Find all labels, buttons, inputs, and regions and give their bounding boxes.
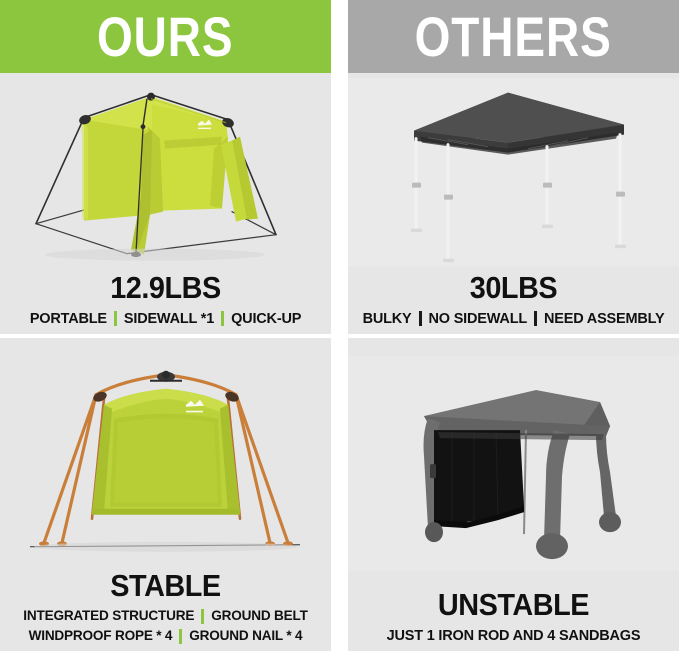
green-popup-canopy-tent-illustration [0,73,331,272]
feature-list-ours-bottom-line1: INTEGRATED STRUCTURE GROUND BELT [0,608,331,625]
section-ours-top: 12.9LBS PORTABLE SIDEWALL *1 QUICK-UP [0,73,331,334]
feature-separator-icon [419,311,422,326]
section-others-bottom: UNSTABLE JUST 1 IRON ROD AND 4 SANDBAGS [348,338,679,651]
banner-ours-title: OURS [97,9,234,65]
comparison-column-others: OTHERS [348,0,679,651]
product-comparison-infographic: OURS [0,0,679,651]
feature-item: GROUND BELT [211,608,307,625]
comparison-column-ours: OURS [0,0,331,651]
caption-ours-top: 12.9LBS PORTABLE SIDEWALL *1 QUICK-UP [0,272,331,334]
caption-ours-bottom: STABLE INTEGRATED STRUCTURE GROUND BELT … [0,570,331,651]
feature-list-ours-bottom-line2: WINDPROOF ROPE * 4 GROUND NAIL * 4 [0,628,331,645]
feature-separator-icon [201,609,204,624]
section-others-top: 30LBS BULKY NO SIDEWALL NEED ASSEMBLY [348,73,679,334]
sidewall-tie [430,464,436,478]
banner-others: OTHERS [348,0,679,73]
feature-item: INTEGRATED STRUCTURE [23,608,194,625]
gray-popup-canopy-illustration [348,73,679,272]
image-gray-canopy-with-black-sidewall [348,338,679,589]
feature-list-others-top: BULKY NO SIDEWALL NEED ASSEMBLY [348,310,679,328]
headline-ours-stability: STABLE [12,570,320,603]
feature-item: NO SIDEWALL [429,310,528,328]
feature-item: NEED ASSEMBLY [544,310,664,328]
banner-others-title: OTHERS [415,9,612,65]
feature-item: QUICK-UP [231,310,301,328]
feature-separator-icon [114,311,117,326]
feature-list-others-bottom: JUST 1 IRON ROD AND 4 SANDBAGS [348,627,679,645]
green-tent-front-illustration [0,338,331,570]
feature-item: BULKY [363,310,412,328]
headline-others-stability: UNSTABLE [360,589,668,622]
banner-ours: OURS [0,0,331,73]
image-gray-pop-up-canopy [348,73,679,272]
feature-item: GROUND NAIL * 4 [189,628,302,645]
feature-separator-icon [179,629,182,644]
feature-separator-icon [221,311,224,326]
feature-item: SIDEWALL *1 [124,310,214,328]
image-green-popup-canopy-tent [0,73,331,272]
section-ours-bottom: STABLE INTEGRATED STRUCTURE GROUND BELT … [0,338,331,651]
feature-item: PORTABLE [30,310,107,328]
headline-ours-weight: 12.9LBS [12,272,320,305]
headline-others-weight: 30LBS [360,272,668,305]
feature-item: JUST 1 IRON ROD AND 4 SANDBAGS [387,627,641,645]
image-green-tent-front-view [0,338,331,570]
caption-others-top: 30LBS BULKY NO SIDEWALL NEED ASSEMBLY [348,272,679,334]
feature-item: WINDPROOF ROPE * 4 [29,628,173,645]
caption-others-bottom: UNSTABLE JUST 1 IRON ROD AND 4 SANDBAGS [348,589,679,651]
feature-separator-icon [534,311,537,326]
gray-canopy-sidewall-illustration [348,338,679,589]
feature-list-ours-top: PORTABLE SIDEWALL *1 QUICK-UP [0,310,331,328]
